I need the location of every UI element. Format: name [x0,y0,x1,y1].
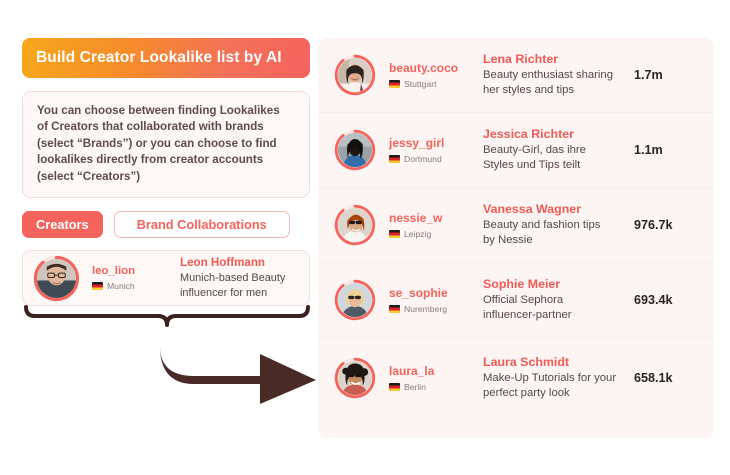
seed-creator-card[interactable]: leo_lion Munich Leon Hoffmann Munich-bas… [22,250,310,306]
avatar-photo [338,208,372,242]
list-item[interactable]: nessie_w Leipzig Vanessa Wagner Beauty a… [318,188,714,263]
result-location: Stuttgart [389,79,477,89]
seed-creator-handle: leo_lion [92,265,166,277]
result-handle[interactable]: nessie_w [389,211,477,225]
result-details: Sophie Meier Official Sephora influencer… [483,277,634,323]
result-details: Vanessa Wagner Beauty and fashion tips b… [483,202,634,248]
result-location-label: Leipzig [404,229,431,239]
result-handle[interactable]: se_sophie [389,286,477,300]
result-name: Laura Schmidt [483,355,634,369]
arrow-right-curved-icon [148,324,323,404]
result-identity: beauty.coco Stuttgart [389,61,477,89]
result-handle[interactable]: jessy_girl [389,136,477,150]
result-details: Lena Richter Beauty enthusiast sharing h… [483,52,634,98]
seed-creator-location: Munich [92,281,166,291]
avatar-photo [338,361,372,395]
seed-creator-name: Leon Hoffmann [180,256,299,269]
result-name: Lena Richter [483,52,634,66]
info-box: You can choose between finding Lookalike… [22,91,310,198]
result-bio: Beauty enthusiast sharing her styles and… [483,68,634,98]
seed-creator-location-label: Munich [107,281,135,291]
result-location: Dortmund [389,154,477,164]
avatar [334,357,376,399]
list-item[interactable]: laura_la Berlin Laura Schmidt Make-Up Tu… [318,338,714,418]
avatar [334,279,376,321]
result-identity: nessie_w Leipzig [389,211,477,239]
avatar-photo-leo [37,259,76,298]
result-name: Sophie Meier [483,277,634,291]
flag-de-icon [389,155,400,163]
flag-de-icon [92,282,103,290]
result-identity: laura_la Berlin [389,364,477,392]
result-location: Leipzig [389,229,477,239]
result-follower-count: 1.7m [634,68,696,82]
result-bio: Official Sephora influencer-partner [483,293,634,323]
left-column: Build Creator Lookalike list by AI You c… [22,38,310,306]
flag-de-icon [389,383,400,391]
result-name: Jessica Richter [483,127,634,141]
result-follower-count: 658.1k [634,371,696,385]
result-handle[interactable]: beauty.coco [389,61,477,75]
mode-toggle-group: Creators Brand Collaborations [22,211,310,238]
result-follower-count: 976.7k [634,218,696,232]
result-details: Laura Schmidt Make-Up Tutorials for your… [483,355,634,401]
tab-brand-collaborations[interactable]: Brand Collaborations [114,211,290,238]
result-handle[interactable]: laura_la [389,364,477,378]
avatar [334,204,376,246]
avatar-photo [338,133,372,167]
result-bio: Beauty and fashion tips by Nessie [483,218,634,248]
list-item[interactable]: beauty.coco Stuttgart Lena Richter Beaut… [318,38,714,113]
result-identity: jessy_girl Dortmund [389,136,477,164]
hero-banner: Build Creator Lookalike list by AI [22,38,310,78]
result-follower-count: 693.4k [634,293,696,307]
avatar [33,255,80,302]
seed-creator-identity: leo_lion Munich [92,265,166,291]
result-details: Jessica Richter Beauty-Girl, das ihre St… [483,127,634,173]
result-location-label: Dortmund [404,154,442,164]
result-location: Berlin [389,382,477,392]
lookalike-results-panel[interactable]: beauty.coco Stuttgart Lena Richter Beaut… [318,38,714,438]
result-location-label: Berlin [404,382,426,392]
list-item[interactable]: se_sophie Nuremberg Sophie Meier Officia… [318,263,714,338]
avatar [334,129,376,171]
info-box-text: You can choose between finding Lookalike… [37,103,295,185]
avatar-photo [338,58,372,92]
avatar [334,54,376,96]
list-item[interactable]: jessy_girl Dortmund Jessica Richter Beau… [318,113,714,188]
tab-creators[interactable]: Creators [22,211,103,238]
result-follower-count: 1.1m [634,143,696,157]
result-name: Vanessa Wagner [483,202,634,216]
seed-creator-details: Leon Hoffmann Munich-based Beauty influe… [180,256,299,300]
result-bio: Make-Up Tutorials for your perfect party… [483,371,634,401]
result-location: Nuremberg [389,304,477,314]
avatar-photo [338,283,372,317]
app-root: Build Creator Lookalike list by AI You c… [0,0,730,475]
flow-arrow [148,324,323,404]
flag-de-icon [389,305,400,313]
result-location-label: Nuremberg [404,304,447,314]
page-title: Build Creator Lookalike list by AI [36,49,282,67]
result-identity: se_sophie Nuremberg [389,286,477,314]
flag-de-icon [389,230,400,238]
result-bio: Beauty-Girl, das ihre Styles und Tips te… [483,143,634,173]
flag-de-icon [389,80,400,88]
result-location-label: Stuttgart [404,79,436,89]
seed-creator-bio: Munich-based Beauty influencer for men [180,271,299,300]
